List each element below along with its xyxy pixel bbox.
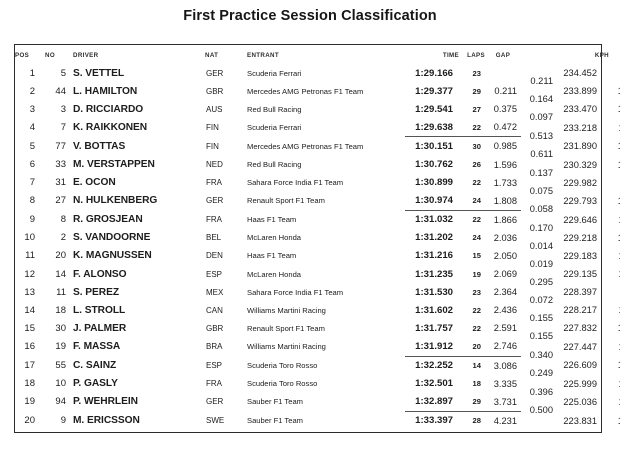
interval-value: 0.137: [521, 168, 553, 178]
cell-time-of-day: 10:42:52: [609, 319, 620, 337]
cell-entrant: McLaren Honda: [247, 265, 405, 283]
cell-time-of-day: 10:13:33: [609, 155, 620, 173]
cell-time-of-day: 11:10:40: [609, 265, 620, 283]
cell-kph: 233.218: [561, 118, 609, 137]
interval-value: 0.014: [521, 241, 553, 251]
cell-laps: 24: [459, 192, 485, 211]
cell-laps: 22: [459, 118, 485, 137]
cell-kph: 227.447: [561, 337, 609, 356]
cell-nationality: GER: [205, 64, 247, 82]
cell-entrant: Renault Sport F1 Team: [247, 319, 405, 337]
cell-laps: 30: [459, 137, 485, 156]
interval-value: 0.155: [521, 313, 553, 323]
cell-position: 13: [15, 283, 45, 301]
cell-position: 15: [15, 319, 45, 337]
cell-lap-time: 1:29.377: [405, 82, 459, 100]
cell-position: 2: [15, 82, 45, 100]
interval-value: 0.058: [521, 204, 553, 214]
cell-time-of-day: 10:36:45: [609, 82, 620, 100]
cell-laps: 14: [459, 356, 485, 375]
cell-entrant: Haas F1 Team: [247, 247, 405, 265]
interval-value: 0.075: [521, 186, 553, 196]
cell-car-number: 5: [45, 64, 73, 82]
cell-car-number: 55: [45, 356, 73, 375]
cell-driver-name: E. OCON: [73, 174, 205, 192]
cell-driver-name: S. VANDOORNE: [73, 229, 205, 247]
cell-nationality: FRA: [205, 375, 247, 393]
cell-driver-name: F. MASSA: [73, 337, 205, 356]
cell-lap-time: 1:29.638: [405, 118, 459, 137]
cell-lap-time: 1:31.530: [405, 283, 459, 301]
cell-driver-name: C. SAINZ: [73, 356, 205, 375]
cell-driver-name: F. ALONSO: [73, 265, 205, 283]
table-header-row: POS NO DRIVER NAT ENTRANT TIME LAPS GAP …: [15, 45, 620, 64]
cell-driver-name: L. HAMILTON: [73, 82, 205, 100]
cell-lap-time: 1:32.897: [405, 393, 459, 412]
cell-lap-time: 1:31.216: [405, 247, 459, 265]
column-header-entrant: ENTRANT: [247, 45, 405, 64]
cell-laps: 19: [459, 265, 485, 283]
column-header-time-of-day: TIME OF DAY: [609, 45, 620, 64]
interval-value: 0.211: [521, 76, 553, 86]
cell-time-of-day: 11:10:19: [609, 210, 620, 229]
cell-position: 17: [15, 356, 45, 375]
column-header-driver: DRIVER: [73, 45, 205, 64]
cell-laps: 28: [459, 411, 485, 430]
interval-value: 0.295: [521, 277, 553, 287]
cell-entrant: McLaren Honda: [247, 229, 405, 247]
cell-car-number: 2: [45, 229, 73, 247]
cell-driver-name: K. RAIKKONEN: [73, 118, 205, 137]
cell-position: 8: [15, 192, 45, 211]
cell-laps: 23: [459, 283, 485, 301]
cell-position: 20: [15, 411, 45, 430]
cell-driver-name: P. WEHRLEIN: [73, 393, 205, 412]
column-header-interval: [521, 45, 561, 64]
cell-time-of-day: 10:28:08: [609, 100, 620, 118]
cell-car-number: 14: [45, 265, 73, 283]
cell-nationality: GBR: [205, 319, 247, 337]
cell-entrant: Renault Sport F1 Team: [247, 192, 405, 211]
cell-entrant: Williams Martini Racing: [247, 337, 405, 356]
cell-car-number: 94: [45, 393, 73, 412]
cell-driver-name: P. GASLY: [73, 375, 205, 393]
interval-value: 0.097: [521, 112, 553, 122]
cell-nationality: BRA: [205, 337, 247, 356]
cell-time-of-day: 10:47:40: [609, 229, 620, 247]
cell-time-of-day: 11:16:25: [609, 247, 620, 265]
cell-gap: 2.591: [485, 319, 521, 337]
cell-car-number: 3: [45, 100, 73, 118]
table-body: 15S. VETTELGERScuderia Ferrari1:29.16623…: [15, 64, 620, 430]
cell-car-number: 44: [45, 82, 73, 100]
cell-position: 16: [15, 337, 45, 356]
cell-time-of-day: 11:12:55: [609, 337, 620, 356]
interval-value: 0.500: [521, 405, 553, 415]
cell-entrant: Sauber F1 Team: [247, 393, 405, 412]
cell-laps: 22: [459, 210, 485, 229]
cell-time-of-day: 11:11:38: [609, 174, 620, 192]
column-header-laps: LAPS: [459, 45, 485, 64]
cell-gap: 4.231: [485, 411, 521, 430]
cell-driver-name: K. MAGNUSSEN: [73, 247, 205, 265]
cell-entrant: Williams Martini Racing: [247, 301, 405, 319]
cell-car-number: 9: [45, 411, 73, 430]
cell-gap: 0.211: [485, 82, 521, 100]
cell-lap-time: 1:31.757: [405, 319, 459, 337]
cell-car-number: 7: [45, 118, 73, 137]
interval-value: 0.155: [521, 331, 553, 341]
cell-nationality: ESP: [205, 265, 247, 283]
cell-time-of-day: 11:14:13: [609, 301, 620, 319]
cell-position: 4: [15, 118, 45, 137]
cell-nationality: CAN: [205, 301, 247, 319]
cell-kph: 229.135: [561, 265, 609, 283]
cell-entrant: Scuderia Ferrari: [247, 118, 405, 137]
cell-nationality: NED: [205, 155, 247, 173]
column-header-gap: GAP: [485, 45, 521, 64]
cell-nationality: MEX: [205, 283, 247, 301]
cell-nationality: GBR: [205, 82, 247, 100]
cell-kph: 229.793: [561, 192, 609, 211]
cell-position: 12: [15, 265, 45, 283]
cell-position: 1: [15, 64, 45, 82]
cell-entrant: Scuderia Toro Rosso: [247, 356, 405, 375]
cell-gap: 2.036: [485, 229, 521, 247]
cell-position: 9: [15, 210, 45, 229]
cell-car-number: 33: [45, 155, 73, 173]
interval-value: 0.611: [521, 149, 553, 159]
cell-entrant: Scuderia Toro Rosso: [247, 375, 405, 393]
cell-kph: 233.470: [561, 100, 609, 118]
cell-position: 6: [15, 155, 45, 173]
cell-nationality: FIN: [205, 118, 247, 137]
cell-driver-name: S. VETTEL: [73, 64, 205, 82]
cell-entrant: Mercedes AMG Petronas F1 Team: [247, 137, 405, 156]
cell-lap-time: 1:30.151: [405, 137, 459, 156]
cell-gap: 2.746: [485, 337, 521, 356]
cell-driver-name: S. PEREZ: [73, 283, 205, 301]
cell-nationality: GER: [205, 192, 247, 211]
cell-gap: 0.472: [485, 118, 521, 137]
interval-value: 0.249: [521, 368, 553, 378]
cell-gap: 3.731: [485, 393, 521, 412]
cell-nationality: ESP: [205, 356, 247, 375]
cell-time-of-day: 11:11:30: [609, 64, 620, 82]
cell-nationality: AUS: [205, 100, 247, 118]
cell-lap-time: 1:31.235: [405, 265, 459, 283]
cell-gap: 0.375: [485, 100, 521, 118]
cell-kph: 234.452: [561, 64, 609, 82]
cell-laps: 24: [459, 229, 485, 247]
cell-nationality: FRA: [205, 210, 247, 229]
cell-driver-name: J. PALMER: [73, 319, 205, 337]
cell-car-number: 10: [45, 375, 73, 393]
cell-kph: 228.397: [561, 283, 609, 301]
cell-nationality: SWE: [205, 411, 247, 430]
table-row: 15S. VETTELGERScuderia Ferrari1:29.16623…: [15, 64, 620, 82]
cell-nationality: FRA: [205, 174, 247, 192]
cell-lap-time: 1:30.899: [405, 174, 459, 192]
cell-lap-time: 1:30.762: [405, 155, 459, 173]
cell-gap: 1.866: [485, 210, 521, 229]
cell-kph: 223.831: [561, 411, 609, 430]
cell-entrant: Sauber F1 Team: [247, 411, 405, 430]
cell-kph: 225.036: [561, 393, 609, 412]
interval-value: 0.170: [521, 223, 553, 233]
cell-lap-time: 1:32.252: [405, 356, 459, 375]
interval-value: 0.340: [521, 350, 553, 360]
cell-position: 11: [15, 247, 45, 265]
cell-kph: 229.982: [561, 174, 609, 192]
cell-kph: 228.217: [561, 301, 609, 319]
cell-laps: 27: [459, 100, 485, 118]
cell-time-of-day: 11:21:46: [609, 393, 620, 412]
cell-gap: 3.086: [485, 356, 521, 375]
cell-entrant: Mercedes AMG Petronas F1 Team: [247, 82, 405, 100]
cell-laps: 20: [459, 337, 485, 356]
cell-driver-name: V. BOTTAS: [73, 137, 205, 156]
interval-value: 0.513: [521, 131, 553, 141]
cell-car-number: 18: [45, 301, 73, 319]
cell-lap-time: 1:33.397: [405, 411, 459, 430]
classification-table: POS NO DRIVER NAT ENTRANT TIME LAPS GAP …: [15, 45, 620, 430]
cell-kph: 230.329: [561, 155, 609, 173]
cell-laps: 22: [459, 319, 485, 337]
cell-time-of-day: 11:11:06: [609, 283, 620, 301]
cell-position: 3: [15, 100, 45, 118]
cell-car-number: 27: [45, 192, 73, 211]
column-header-no: NO: [45, 45, 73, 64]
cell-lap-time: 1:30.974: [405, 192, 459, 211]
cell-kph: 227.832: [561, 319, 609, 337]
cell-gap: [485, 64, 521, 82]
cell-gap: 1.733: [485, 174, 521, 192]
cell-time-of-day: 10:34:26: [609, 356, 620, 375]
cell-driver-name: R. GROSJEAN: [73, 210, 205, 229]
cell-car-number: 31: [45, 174, 73, 192]
interval-value: 0.396: [521, 387, 553, 397]
cell-kph: 231.890: [561, 137, 609, 156]
cell-car-number: 20: [45, 247, 73, 265]
cell-car-number: 11: [45, 283, 73, 301]
cell-lap-time: 1:32.501: [405, 375, 459, 393]
cell-laps: 29: [459, 82, 485, 100]
cell-kph: 229.646: [561, 210, 609, 229]
column-header-nat: NAT: [205, 45, 247, 64]
cell-time-of-day: 10:45:45: [609, 411, 620, 430]
results-page: First Practice Session Classification PO…: [0, 0, 620, 458]
cell-entrant: Haas F1 Team: [247, 210, 405, 229]
cell-kph: 229.218: [561, 229, 609, 247]
cell-laps: 22: [459, 174, 485, 192]
cell-nationality: GER: [205, 393, 247, 412]
cell-time-of-day: 11:17:19: [609, 375, 620, 393]
cell-nationality: DEN: [205, 247, 247, 265]
cell-gap: 3.335: [485, 375, 521, 393]
cell-car-number: 30: [45, 319, 73, 337]
cell-gap: 1.596: [485, 155, 521, 173]
cell-car-number: 8: [45, 210, 73, 229]
cell-entrant: Red Bull Racing: [247, 155, 405, 173]
interval-value: 0.072: [521, 295, 553, 305]
cell-car-number: 77: [45, 137, 73, 156]
cell-lap-time: 1:31.602: [405, 301, 459, 319]
cell-position: 14: [15, 301, 45, 319]
cell-nationality: FIN: [205, 137, 247, 156]
cell-position: 18: [15, 375, 45, 393]
cell-position: 10: [15, 229, 45, 247]
cell-lap-time: 1:31.032: [405, 210, 459, 229]
cell-laps: 29: [459, 393, 485, 412]
cell-driver-name: M. VERSTAPPEN: [73, 155, 205, 173]
cell-entrant: Red Bull Racing: [247, 100, 405, 118]
cell-driver-name: N. HULKENBERG: [73, 192, 205, 211]
cell-gap: 2.050: [485, 247, 521, 265]
cell-kph: 229.183: [561, 247, 609, 265]
column-header-kph: KPH: [561, 45, 609, 64]
cell-laps: 18: [459, 375, 485, 393]
interval-value: 0.164: [521, 94, 553, 104]
cell-lap-time: 1:31.912: [405, 337, 459, 356]
cell-interval: 0.211: [521, 64, 561, 82]
interval-value: 0.019: [521, 259, 553, 269]
cell-laps: 22: [459, 301, 485, 319]
cell-lap-time: 1:29.166: [405, 64, 459, 82]
page-title: First Practice Session Classification: [0, 0, 620, 26]
cell-laps: 15: [459, 247, 485, 265]
cell-lap-time: 1:31.202: [405, 229, 459, 247]
cell-laps: 26: [459, 155, 485, 173]
cell-lap-time: 1:29.541: [405, 100, 459, 118]
cell-gap: 2.364: [485, 283, 521, 301]
cell-entrant: Scuderia Ferrari: [247, 64, 405, 82]
cell-car-number: 19: [45, 337, 73, 356]
cell-driver-name: M. ERICSSON: [73, 411, 205, 430]
classification-table-frame: POS NO DRIVER NAT ENTRANT TIME LAPS GAP …: [14, 44, 602, 433]
cell-position: 19: [15, 393, 45, 412]
cell-laps: 23: [459, 64, 485, 82]
cell-gap: 1.808: [485, 192, 521, 211]
cell-kph: 225.999: [561, 375, 609, 393]
column-header-pos: POS: [15, 45, 45, 64]
cell-position: 7: [15, 174, 45, 192]
cell-entrant: Sahara Force India F1 Team: [247, 174, 405, 192]
cell-nationality: BEL: [205, 229, 247, 247]
cell-kph: 226.609: [561, 356, 609, 375]
cell-gap: 2.436: [485, 301, 521, 319]
cell-gap: 2.069: [485, 265, 521, 283]
cell-driver-name: L. STROLL: [73, 301, 205, 319]
cell-time-of-day: 10:38:55: [609, 192, 620, 211]
cell-driver-name: D. RICCIARDO: [73, 100, 205, 118]
column-header-time: TIME: [405, 45, 459, 64]
cell-kph: 233.899: [561, 82, 609, 100]
cell-entrant: Sahara Force India F1 Team: [247, 283, 405, 301]
cell-position: 5: [15, 137, 45, 156]
cell-time-of-day: 10:34:44: [609, 137, 620, 156]
cell-gap: 0.985: [485, 137, 521, 156]
cell-time-of-day: 11:10:48: [609, 118, 620, 137]
